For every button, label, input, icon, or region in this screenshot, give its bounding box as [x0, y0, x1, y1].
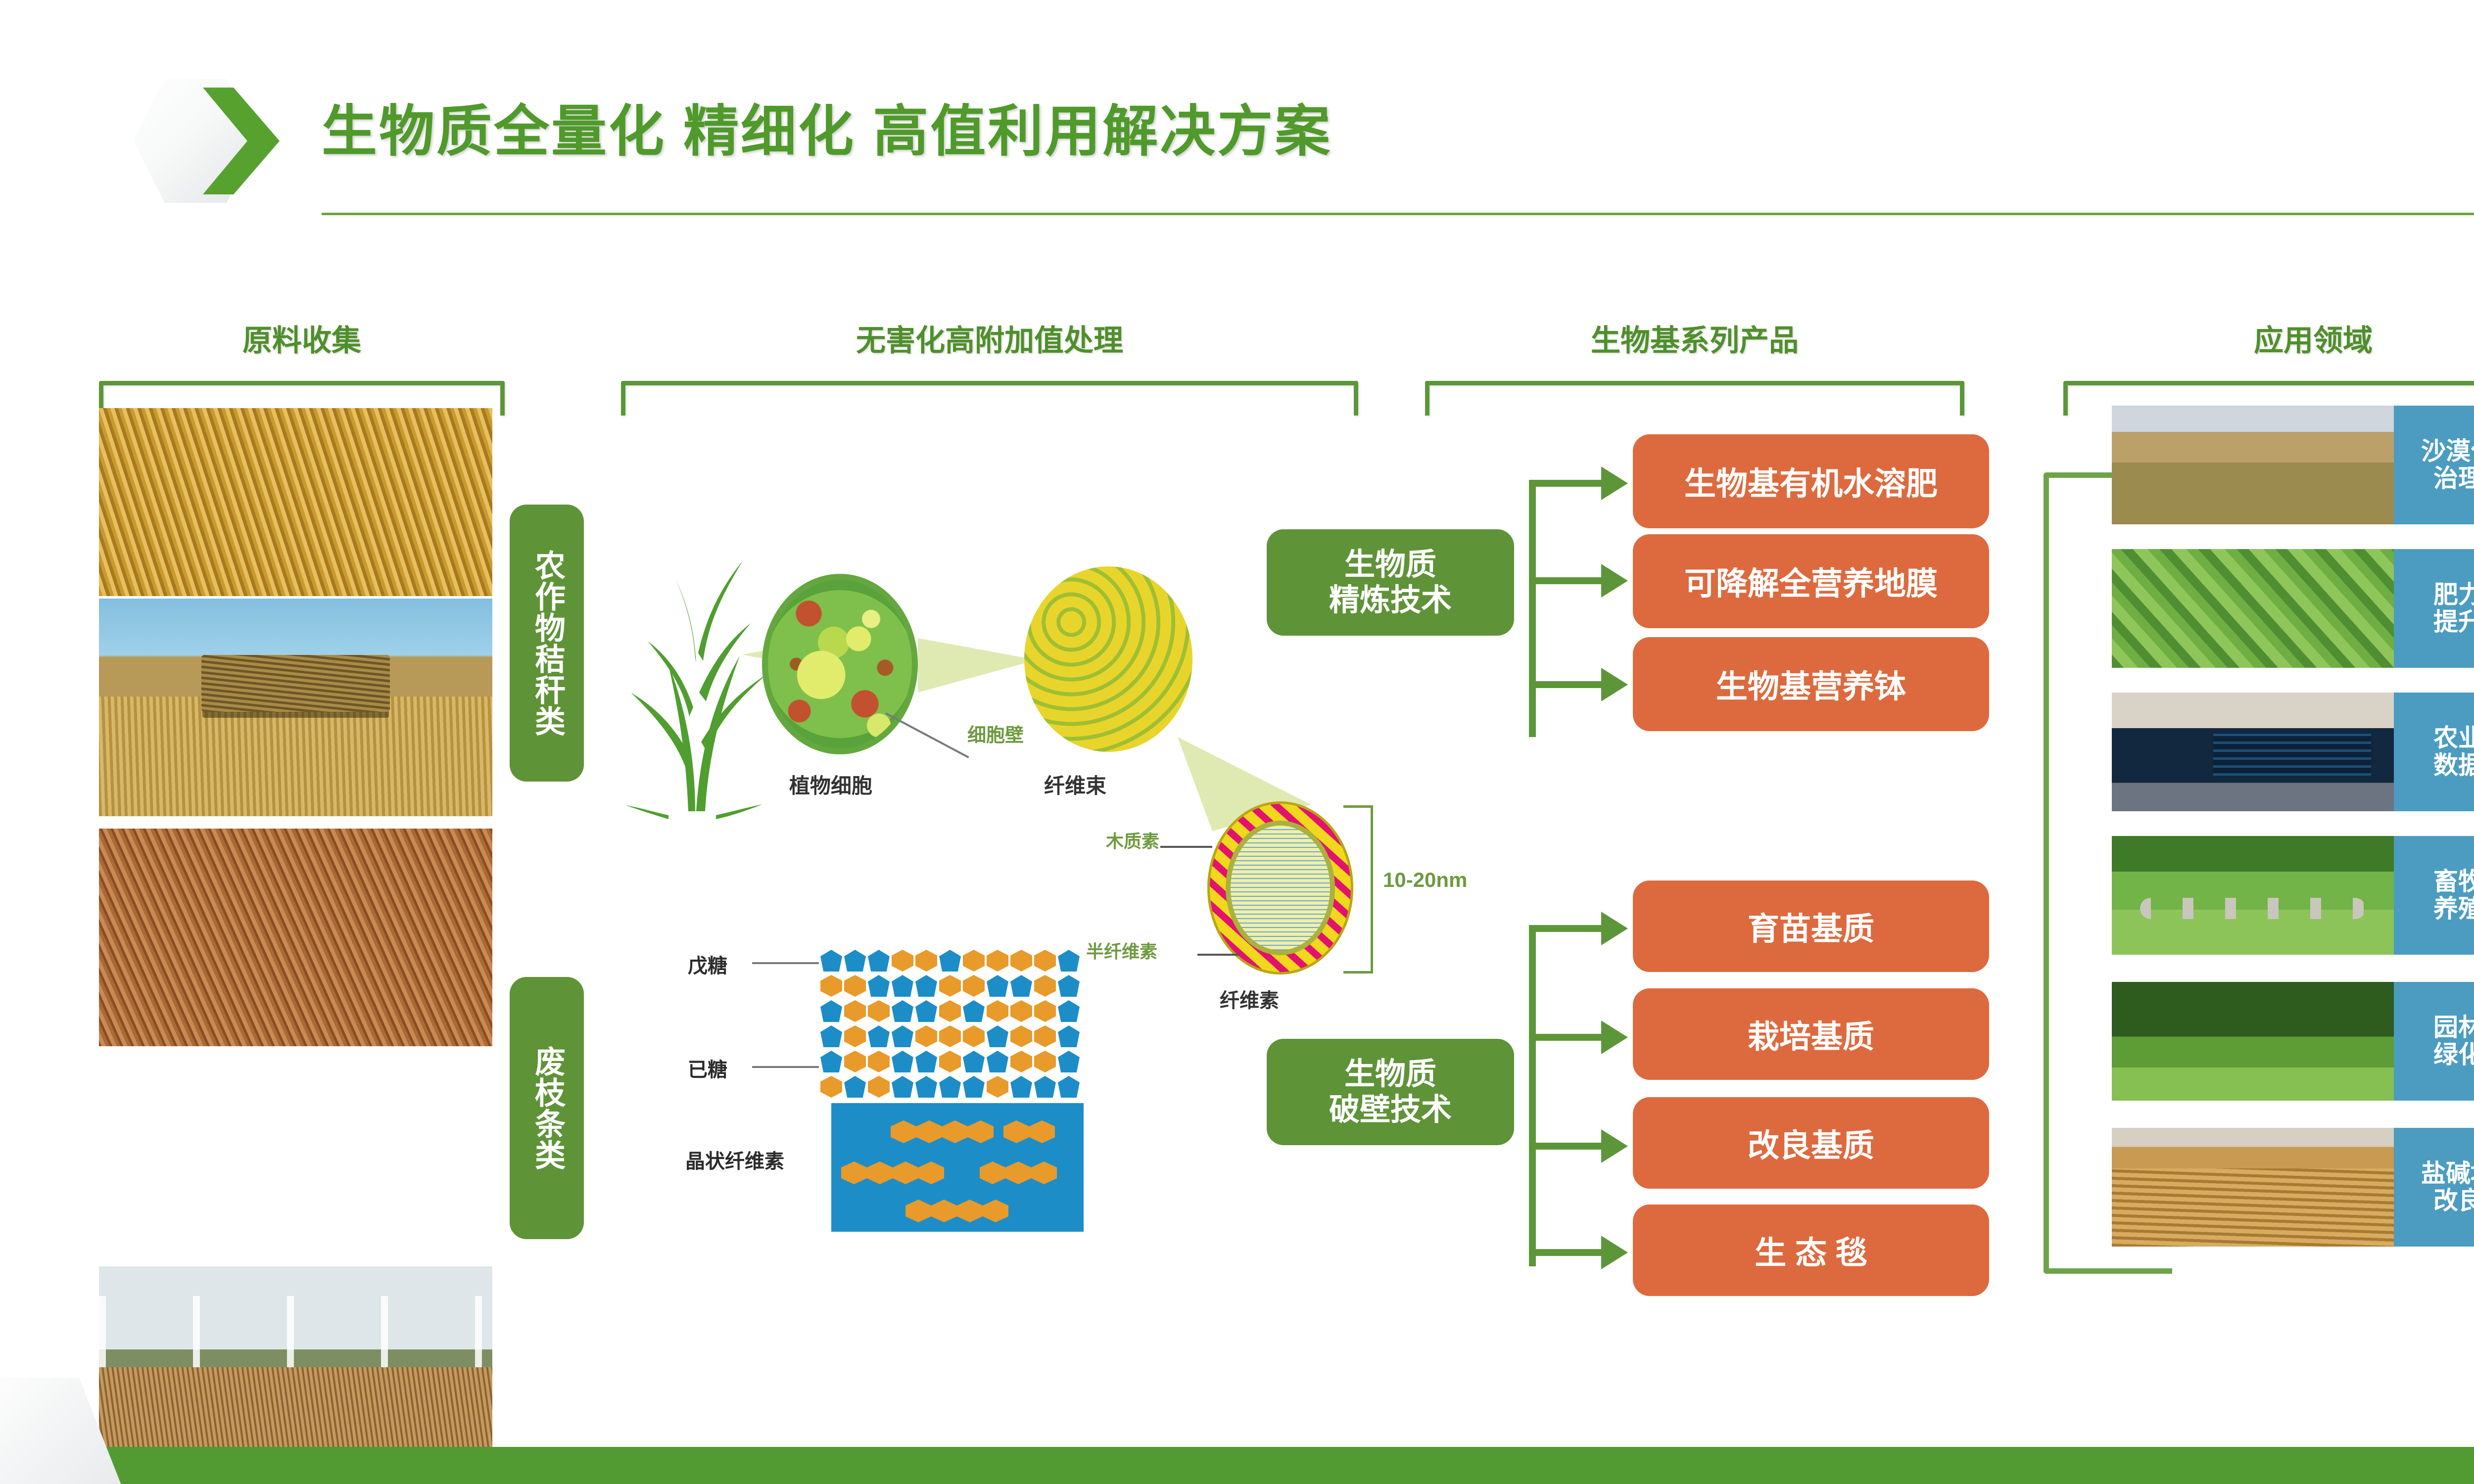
- arrow-head-2b: [1601, 1020, 1628, 1054]
- label-line-2: 治理: [2433, 464, 2474, 492]
- fiber-cross-section-illustration: [1207, 801, 1353, 974]
- desert-control-photo: [2112, 406, 2394, 524]
- label-line-1: 盐碱地: [2421, 1159, 2474, 1187]
- cellulose-core: [1231, 826, 1330, 950]
- fiber-bundle-illustration: [1024, 566, 1192, 752]
- hexose-label: 已糖: [688, 1054, 727, 1082]
- sugar-chain-diagram: [820, 950, 1080, 1101]
- tech-line-1: 生物质: [1344, 548, 1436, 582]
- soil-fertility-photo: [2112, 549, 2394, 668]
- crystalline-cellulose-label: 晶状纤维素: [685, 1145, 784, 1174]
- arrow-head-1a: [1601, 466, 1628, 500]
- application-row-desert: 沙漠化 治理: [2112, 406, 2474, 524]
- cell-wall-leader-line: [885, 712, 969, 758]
- tech-line-1: 生物质: [1344, 1057, 1436, 1091]
- application-label-fertility[interactable]: 肥力 提升: [2394, 549, 2474, 668]
- crystalline-cellulose-illustration: [831, 1103, 1084, 1232]
- hexose-leader-line: [752, 1066, 819, 1068]
- title-divider: [322, 213, 2474, 215]
- pruned-branches-photo: [99, 829, 492, 1046]
- cellulose-label: 纤维素: [1220, 984, 1279, 1013]
- section-label-products: 生物基系列产品: [1425, 317, 1964, 360]
- application-row-data: 农业 数据: [2112, 693, 2474, 811]
- connector-branch-2d: [1529, 1249, 1603, 1256]
- footer-bar: [0, 1447, 2474, 1484]
- application-row-fertility: 肥力 提升: [2112, 549, 2474, 668]
- lignin-leader-line: [1160, 846, 1212, 848]
- application-row-livestock: 畜牧 养殖: [2112, 836, 2474, 955]
- tech-line-2: 破壁技术: [1329, 1093, 1452, 1127]
- label-line-1: 畜牧: [2433, 868, 2474, 895]
- label-line-2: 绿化: [2433, 1041, 2474, 1068]
- label-line-1: 园林: [2433, 1014, 2474, 1041]
- arrow-head-1b: [1601, 564, 1628, 598]
- application-label-saline[interactable]: 盐碱地 改良: [2394, 1128, 2474, 1247]
- label-line-2: 改良: [2433, 1187, 2474, 1214]
- label-line-1: 肥力: [2433, 581, 2474, 608]
- tech-line-2: 精炼技术: [1329, 583, 1452, 617]
- waste-branch-tag: 废枝条类: [510, 977, 584, 1239]
- arrow-head-2a: [1601, 912, 1628, 945]
- section-label-processing: 无害化高附加值处理: [621, 317, 1358, 360]
- straw-bale-field-photo: [99, 599, 492, 816]
- product-box-seedling-substrate[interactable]: 育苗基质: [1633, 881, 1989, 972]
- magnify-beam-2: [918, 638, 1037, 693]
- connector-branch-2b: [1529, 1034, 1603, 1041]
- application-row-landscaping: 园林 绿化: [2112, 982, 2474, 1101]
- section-label-collection: 原料收集: [99, 317, 505, 360]
- product-box-biodegradable-film[interactable]: 可降解全营养地膜: [1633, 534, 1989, 628]
- arrow-head-2d: [1601, 1236, 1628, 1269]
- dimension-line: [1371, 805, 1373, 974]
- label-line-2: 数据: [2433, 751, 2474, 779]
- cell-wall-label: 细胞壁: [967, 720, 1024, 747]
- plant-cell-label: 植物细胞: [789, 769, 872, 799]
- agri-data-center-photo: [2112, 693, 2394, 811]
- label-line-1: 农业: [2433, 724, 2474, 752]
- bracket-products: [1425, 381, 1964, 416]
- refining-technology-box[interactable]: 生物质 精炼技术: [1267, 529, 1514, 636]
- label-line-2: 养殖: [2433, 895, 2474, 923]
- connector-branch-2a: [1529, 925, 1603, 932]
- label-line-1: 沙漠化: [2421, 437, 2474, 465]
- pentose-label: 戊糖: [688, 950, 727, 978]
- connector-branch-2c: [1529, 1143, 1603, 1150]
- label-line-2: 提升: [2433, 608, 2474, 636]
- dimension-value-label: 10-20nm: [1383, 868, 1467, 892]
- connector-trunk-1: [1529, 480, 1536, 737]
- plant-cell-illustration: [762, 574, 918, 754]
- product-box-cultivation-substrate[interactable]: 栽培基质: [1633, 988, 1989, 1080]
- application-label-data[interactable]: 农业 数据: [2394, 693, 2474, 811]
- section-label-applications: 应用领域: [2063, 317, 2474, 360]
- pentose-leader-line: [752, 962, 819, 964]
- bracket-processing: [621, 381, 1358, 416]
- application-label-landscaping[interactable]: 园林 绿化: [2394, 982, 2474, 1101]
- hemicellulose-label: 半纤维素: [1086, 937, 1157, 963]
- grass-plant-icon: [621, 544, 784, 821]
- arrow-head-2c: [1601, 1129, 1628, 1163]
- connector-branch-1b: [1529, 577, 1603, 584]
- infographic-slide: 生物质全量化 精细化 高值利用解决方案 原料收集 无害化高附加值处理 生物基系列…: [0, 0, 2474, 1484]
- arrow-head-1c: [1601, 668, 1628, 701]
- corn-stalk-photo: [99, 408, 492, 596]
- dimension-cap-top: [1343, 805, 1373, 808]
- page-title: 生物质全量化 精细化 高值利用解决方案: [322, 87, 1332, 167]
- application-label-livestock[interactable]: 畜牧 养殖: [2394, 836, 2474, 955]
- crop-straw-tag: 农作物秸秆类: [510, 505, 584, 782]
- connector-branch-1c: [1529, 681, 1603, 688]
- product-box-improvement-substrate[interactable]: 改良基质: [1633, 1097, 1989, 1189]
- fiber-bundle-label: 纤维束: [1044, 769, 1106, 799]
- dimension-cap-bottom: [1343, 971, 1373, 974]
- wall-breaking-technology-box[interactable]: 生物质 破壁技术: [1267, 1039, 1514, 1145]
- product-box-organic-fertilizer[interactable]: 生物基有机水溶肥: [1633, 434, 1989, 528]
- livestock-grazing-photo: [2112, 836, 2394, 955]
- landscaping-photo: [2112, 982, 2394, 1101]
- connector-branch-1a: [1529, 480, 1603, 487]
- lignin-label: 木质素: [1106, 827, 1159, 853]
- saline-land-photo: [2112, 1128, 2394, 1247]
- hexagon-chevron-icon: [134, 79, 282, 203]
- connector-trunk-2: [1529, 925, 1536, 1266]
- hemicellulose-leader-line: [1197, 954, 1239, 956]
- product-box-ecological-blanket[interactable]: 生 态 毯: [1633, 1205, 1989, 1296]
- product-box-nutrient-pot[interactable]: 生物基营养钵: [1633, 637, 1989, 731]
- application-label-desert[interactable]: 沙漠化 治理: [2394, 406, 2474, 524]
- application-row-saline: 盐碱地 改良: [2112, 1128, 2474, 1247]
